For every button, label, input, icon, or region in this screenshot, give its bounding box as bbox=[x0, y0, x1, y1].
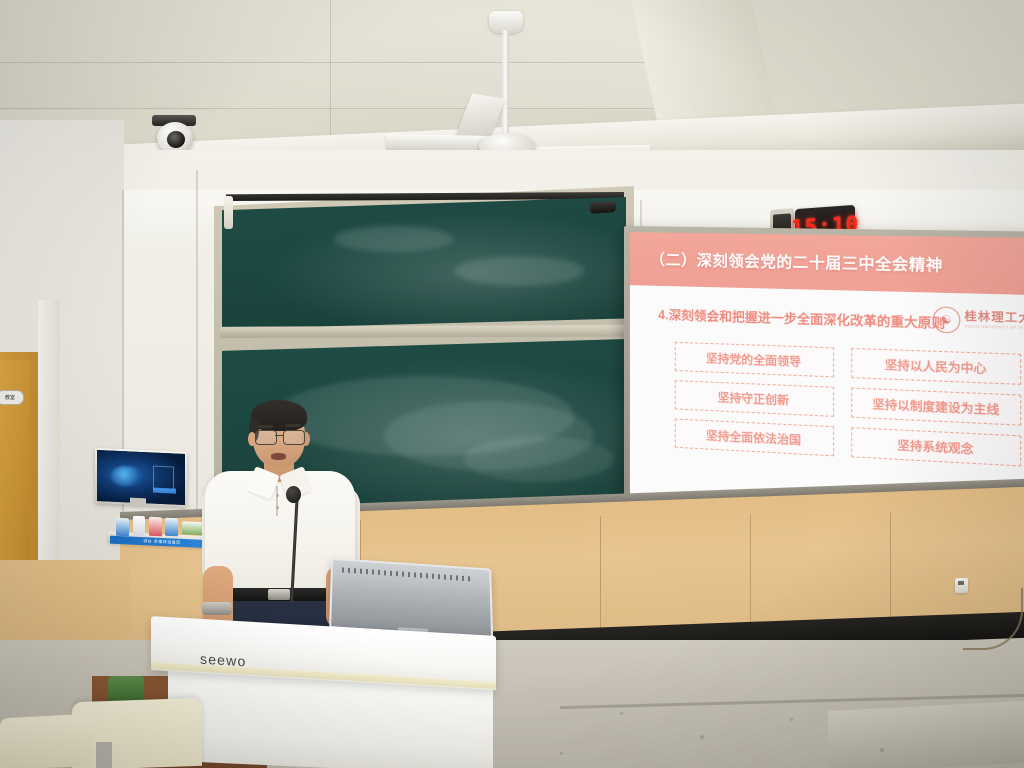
camera-lens-icon bbox=[167, 131, 185, 148]
principle-box: 坚持系统观念 bbox=[851, 427, 1021, 466]
principle-box: 坚持党的全面领导 bbox=[674, 342, 834, 378]
principle-box: 坚持守正创新 bbox=[674, 380, 834, 417]
shirt-button bbox=[276, 494, 279, 497]
blackboard-sensor-icon bbox=[590, 201, 616, 214]
display-mount bbox=[130, 498, 146, 508]
glasses-lens bbox=[255, 430, 277, 445]
principle-box: 坚持全面依法治国 bbox=[674, 418, 834, 456]
principles-grid: 坚持党的全面领导 坚持以人民为中心 坚持守正创新 坚持以制度建设为主线 坚持全面… bbox=[674, 342, 1021, 467]
floor-speck bbox=[880, 748, 884, 752]
desk-leg bbox=[96, 742, 112, 768]
slide-header: （二）深刻领会党的二十届三中全会精神 bbox=[630, 232, 1024, 295]
display-screen bbox=[97, 450, 185, 505]
presenter-placket bbox=[276, 486, 278, 516]
floor-speck bbox=[560, 752, 563, 755]
presenter-eyebrow bbox=[257, 425, 273, 428]
principle-box: 坚持以人民为中心 bbox=[851, 348, 1021, 385]
door-sign: 教室 bbox=[0, 390, 24, 405]
floor-speck bbox=[700, 735, 704, 739]
shelf-item bbox=[116, 518, 129, 537]
floor-speck bbox=[620, 712, 623, 715]
gooseneck-microphone-icon[interactable] bbox=[286, 486, 301, 503]
eyeglasses-icon bbox=[255, 430, 305, 444]
glasses-bridge bbox=[275, 435, 283, 436]
floor-step bbox=[828, 701, 1024, 768]
shelf-item bbox=[149, 517, 162, 537]
display-graphic bbox=[111, 466, 143, 487]
classroom-scene: 15:10 教室 （二）深刻领会党的二十届三中全会精神 ☯ 桂林理工大学 bbox=[0, 0, 1024, 768]
chalk-smudge bbox=[334, 226, 454, 252]
principle-box: 坚持以制度建设为主线 bbox=[851, 387, 1021, 425]
university-logo: ☯ 桂林理工大学 GUILIN UNIVERSITY OF TECHNOLOGY bbox=[932, 306, 1024, 336]
wall-seam bbox=[196, 170, 198, 530]
floor-speck bbox=[790, 718, 793, 721]
ceiling-fan-rod bbox=[502, 30, 509, 140]
chalk-smudge bbox=[464, 436, 614, 482]
wristwatch-icon bbox=[202, 602, 232, 615]
outlet-slot-icon bbox=[958, 581, 964, 585]
chalk-holder bbox=[224, 196, 233, 229]
belt-buckle bbox=[268, 589, 290, 600]
glasses-lens bbox=[283, 430, 305, 445]
shirt-button bbox=[276, 506, 279, 509]
display-panel bbox=[153, 466, 174, 490]
blackboard-center-rail bbox=[220, 325, 628, 338]
chalk-smudge bbox=[454, 256, 584, 286]
slide-header-title: （二）深刻领会党的二十届三中全会精神 bbox=[650, 248, 943, 275]
shelf-item bbox=[133, 516, 145, 537]
shelf-item bbox=[165, 518, 178, 537]
logo-text-block: 桂林理工大学 GUILIN UNIVERSITY OF TECHNOLOGY bbox=[964, 312, 1024, 332]
logo-name-en: GUILIN UNIVERSITY OF TECHNOLOGY bbox=[964, 326, 1024, 332]
podium-brand-label: seewo bbox=[200, 651, 246, 670]
presenter-mouth bbox=[271, 453, 286, 460]
presenter-eyebrow bbox=[285, 424, 301, 427]
student-desk[interactable] bbox=[0, 714, 92, 768]
slide-subtitle: 4.深刻领会和把握进一步全面深化改革的重大原则 bbox=[658, 303, 945, 331]
display-button bbox=[153, 488, 176, 494]
ceiling-seam bbox=[330, 0, 331, 150]
